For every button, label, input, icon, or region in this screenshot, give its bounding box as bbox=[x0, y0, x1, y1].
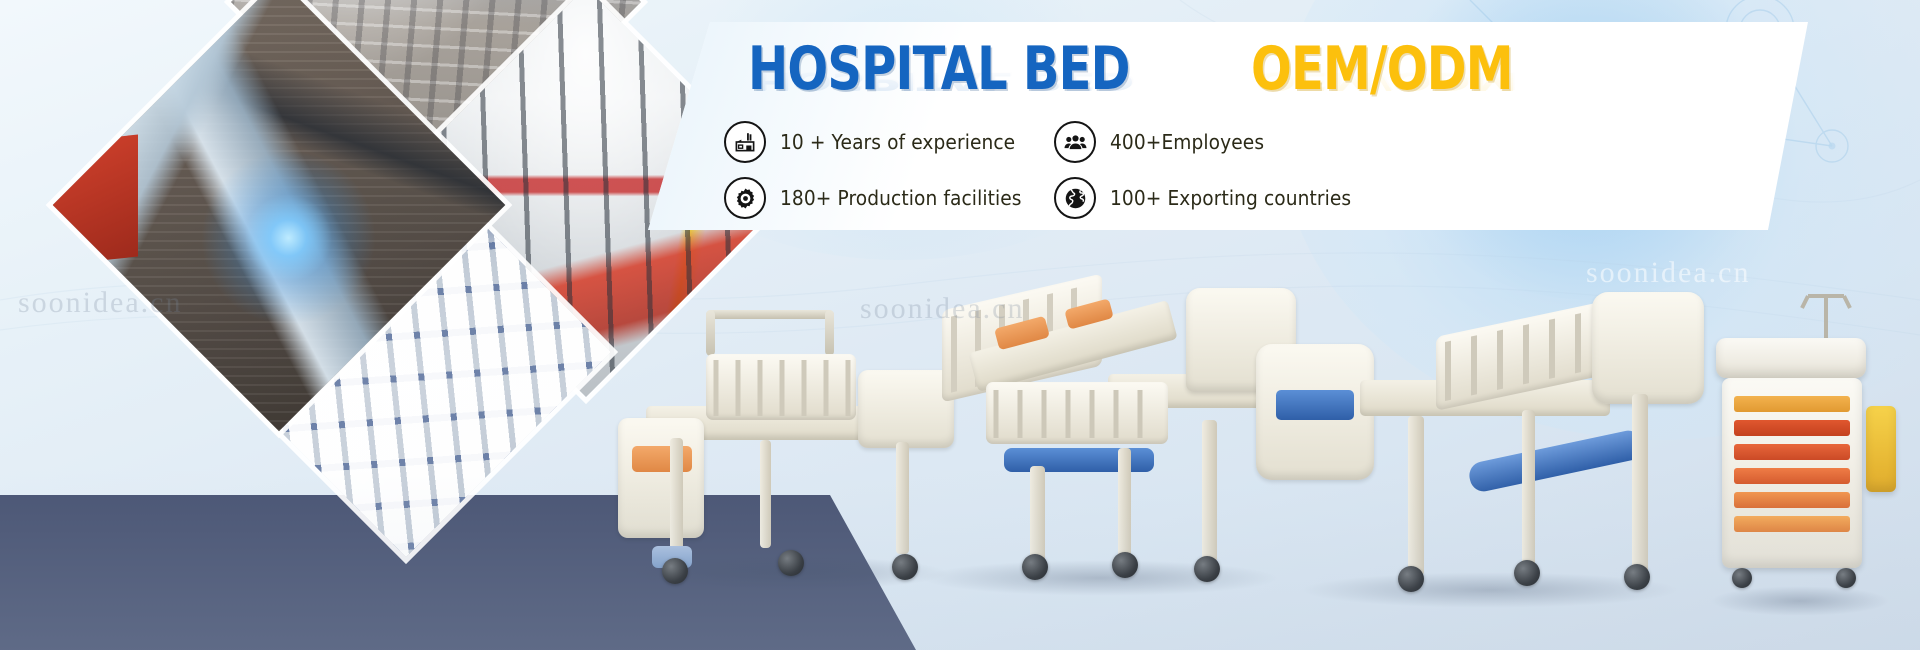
feature-item-countries: 100+ Exporting countries bbox=[1054, 177, 1369, 219]
feature-item-years: 10 + Years of experience bbox=[724, 121, 1054, 163]
feature-text-facilities: 180+ Production facilities bbox=[780, 186, 1022, 210]
feature-item-employees: 400+Employees bbox=[1054, 121, 1276, 163]
people-icon bbox=[1054, 121, 1096, 163]
factory-icon bbox=[724, 121, 766, 163]
emergency-medical-trolley bbox=[1686, 286, 1916, 636]
globe-icon bbox=[1054, 177, 1096, 219]
bed-side-rail-grille bbox=[710, 356, 856, 420]
feature-text-employees: 400+Employees bbox=[1110, 130, 1264, 154]
feature-row-1: 10 + Years of experience 400+Employees bbox=[724, 118, 1424, 166]
headline-primary: HOSPITAL BED bbox=[748, 34, 1130, 104]
feature-row-2: 180+ Production facilities 100+ Exportin… bbox=[724, 174, 1424, 222]
feature-item-facilities: 180+ Production facilities bbox=[724, 177, 1054, 219]
bed-side-rail-grille-2 bbox=[990, 386, 1166, 442]
factory-photo-collage bbox=[106, 0, 666, 512]
three-function-nursing-bed bbox=[1240, 260, 1710, 640]
feature-text-countries: 100+ Exporting countries bbox=[1110, 186, 1351, 210]
headline-secondary: OEM/ODM bbox=[1251, 34, 1513, 104]
gear-icon bbox=[724, 177, 766, 219]
feature-list: 10 + Years of experience 400+Employees bbox=[724, 118, 1424, 222]
hospital-bed-oem-banner: soonidea.cn soonidea.cn soonidea.cn HOSP… bbox=[0, 0, 1920, 650]
feature-text-years: 10 + Years of experience bbox=[780, 130, 1015, 154]
hospital-bed-product-row bbox=[600, 250, 1920, 650]
page-title: HOSPITAL BED OEM/ODM bbox=[748, 34, 1578, 104]
